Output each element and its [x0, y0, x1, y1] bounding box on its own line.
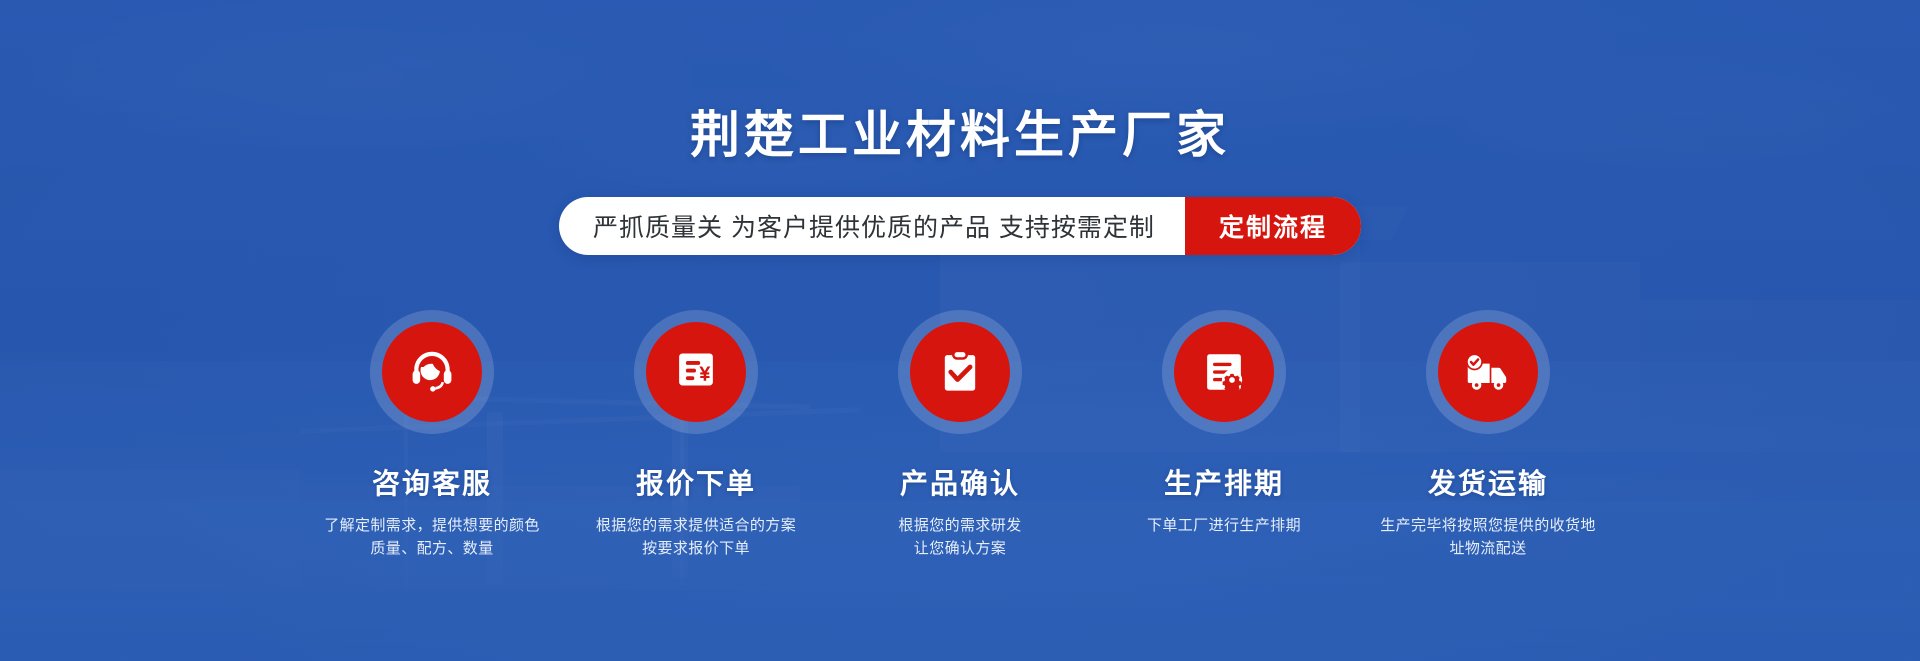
step-description-line-2: 按要求报价下单: [566, 537, 826, 560]
step-icon-ring[interactable]: [898, 310, 1022, 434]
step-description: 了解定制需求，提供想要的颜色 质量、配方、数量: [302, 514, 562, 560]
page-title: 荆楚工业材料生产厂家: [0, 95, 1920, 167]
step-icon-disc: [1174, 322, 1274, 422]
step-description: 生产完毕将按照您提供的收货地 址物流配送: [1358, 514, 1618, 560]
custom-process-button[interactable]: 定制流程: [1185, 197, 1361, 255]
step-description-line-2: 址物流配送: [1358, 537, 1618, 560]
step-item-consult[interactable]: 咨询客服 了解定制需求，提供想要的颜色 质量、配方、数量: [300, 310, 564, 560]
step-icon-disc: [382, 322, 482, 422]
quote-invoice-yuan-icon: [669, 345, 723, 399]
step-icon-ring[interactable]: [370, 310, 494, 434]
step-icon-disc: [646, 322, 746, 422]
promo-banner: 荆楚工业材料生产厂家 严抓质量关 为客户提供优质的产品 支持按需定制 定制流程: [0, 0, 1920, 661]
step-description: 根据您的需求提供适合的方案 按要求报价下单: [566, 514, 826, 560]
delivery-truck-check-icon: [1461, 345, 1515, 399]
step-item-schedule[interactable]: 生产排期 下单工厂进行生产排期: [1092, 310, 1356, 560]
document-gear-icon: [1197, 345, 1251, 399]
promo-bar: 严抓质量关 为客户提供优质的产品 支持按需定制 定制流程: [559, 197, 1361, 255]
process-steps: 咨询客服 了解定制需求，提供想要的颜色 质量、配方、数量: [300, 310, 1620, 560]
step-title: 产品确认: [900, 462, 1020, 502]
step-description-line-2: 让您确认方案: [830, 537, 1090, 560]
step-description-line-1: 生产完毕将按照您提供的收货地: [1358, 514, 1618, 537]
step-item-confirm[interactable]: 产品确认 根据您的需求研发 让您确认方案: [828, 310, 1092, 560]
step-title: 生产排期: [1164, 462, 1284, 502]
promo-bar-text: 严抓质量关 为客户提供优质的产品 支持按需定制: [593, 208, 1185, 244]
step-description-line-1: 了解定制需求，提供想要的颜色: [302, 514, 562, 537]
step-icon-ring[interactable]: [1426, 310, 1550, 434]
step-icon-ring[interactable]: [1162, 310, 1286, 434]
promo-bar-wrapper: 严抓质量关 为客户提供优质的产品 支持按需定制 定制流程: [0, 197, 1920, 255]
headset-support-icon: [405, 345, 459, 399]
step-description-line-1: 下单工厂进行生产排期: [1094, 514, 1354, 537]
step-icon-ring[interactable]: [634, 310, 758, 434]
step-description-line-2: 质量、配方、数量: [302, 537, 562, 560]
step-description-line-1: 根据您的需求研发: [830, 514, 1090, 537]
step-item-quote[interactable]: 报价下单 根据您的需求提供适合的方案 按要求报价下单: [564, 310, 828, 560]
step-icon-disc: [910, 322, 1010, 422]
step-item-shipping[interactable]: 发货运输 生产完毕将按照您提供的收货地 址物流配送: [1356, 310, 1620, 560]
step-description: 下单工厂进行生产排期: [1094, 514, 1354, 537]
step-icon-disc: [1438, 322, 1538, 422]
step-description: 根据您的需求研发 让您确认方案: [830, 514, 1090, 560]
step-title: 发货运输: [1428, 462, 1548, 502]
step-title: 咨询客服: [372, 462, 492, 502]
clipboard-check-icon: [933, 345, 987, 399]
step-title: 报价下单: [636, 462, 756, 502]
step-description-line-1: 根据您的需求提供适合的方案: [566, 514, 826, 537]
